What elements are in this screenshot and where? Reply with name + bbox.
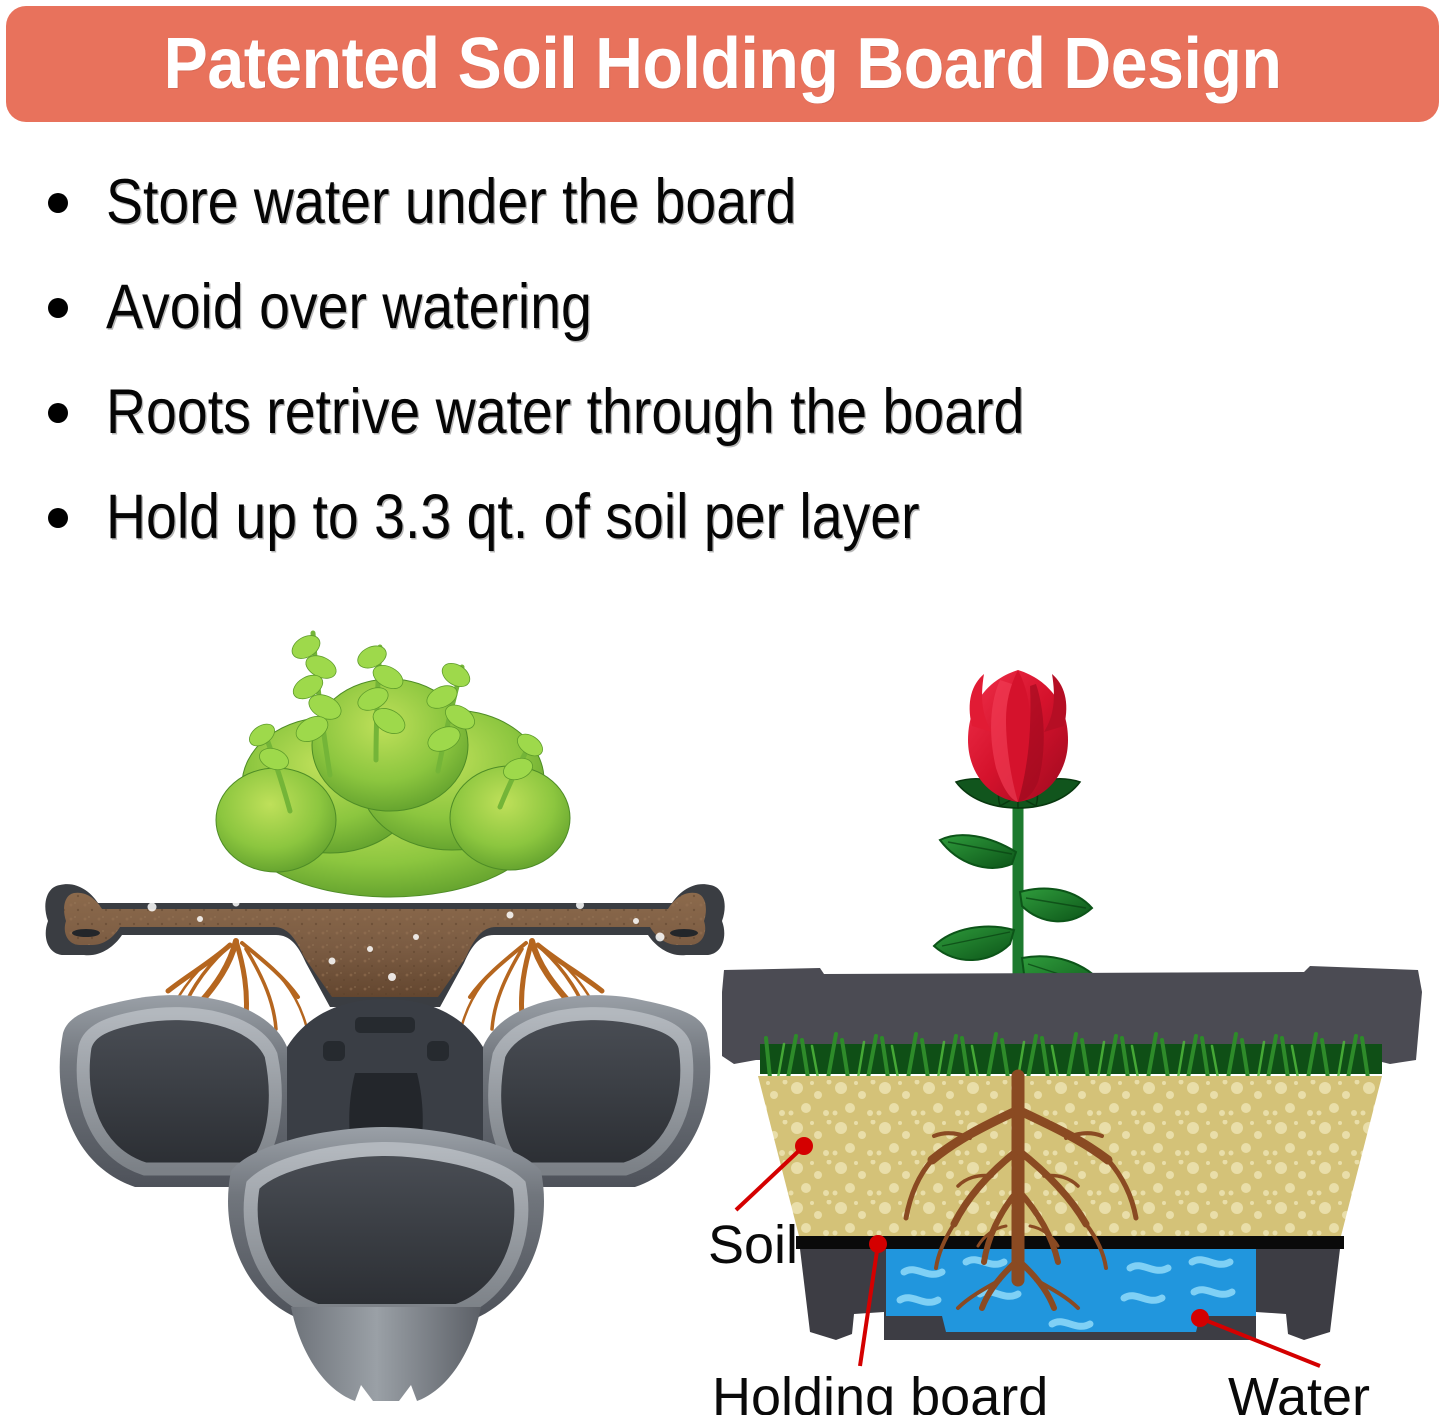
figures-row: Soil Holding board Water bbox=[0, 560, 1445, 1415]
list-item: Store water under the board bbox=[48, 150, 1408, 255]
list-item: Roots retrive water through the board bbox=[48, 360, 1408, 465]
product-photo-stacked-planter bbox=[30, 570, 730, 1415]
bullet-point-icon bbox=[48, 193, 68, 213]
bullet-item-label: Avoid over watering bbox=[106, 274, 592, 340]
bullet-item-label: Store water under the board bbox=[106, 169, 796, 235]
bullet-point-icon bbox=[48, 403, 68, 423]
rose-flower-icon bbox=[968, 670, 1068, 802]
page-title: Patented Soil Holding Board Design bbox=[164, 28, 1282, 100]
list-item: Avoid over watering bbox=[48, 255, 1408, 360]
bullet-point-icon bbox=[48, 298, 68, 318]
infographic-page: Patented Soil Holding Board Design Store… bbox=[0, 0, 1445, 1415]
bullet-item-label: Roots retrive water through the board bbox=[106, 379, 1024, 445]
list-item: Hold up to 3.3 qt. of soil per layer bbox=[48, 465, 1408, 570]
bullet-item-label: Hold up to 3.3 qt. of soil per layer bbox=[106, 484, 920, 550]
feature-bullet-list: Store water under the board Avoid over w… bbox=[48, 150, 1408, 570]
header-banner: Patented Soil Holding Board Design bbox=[6, 6, 1439, 122]
three-lobed-planter-icon bbox=[55, 955, 715, 1415]
bullet-point-icon bbox=[48, 508, 68, 528]
pot-cross-section-diagram bbox=[700, 640, 1445, 1410]
soil-layer bbox=[758, 1076, 1382, 1240]
